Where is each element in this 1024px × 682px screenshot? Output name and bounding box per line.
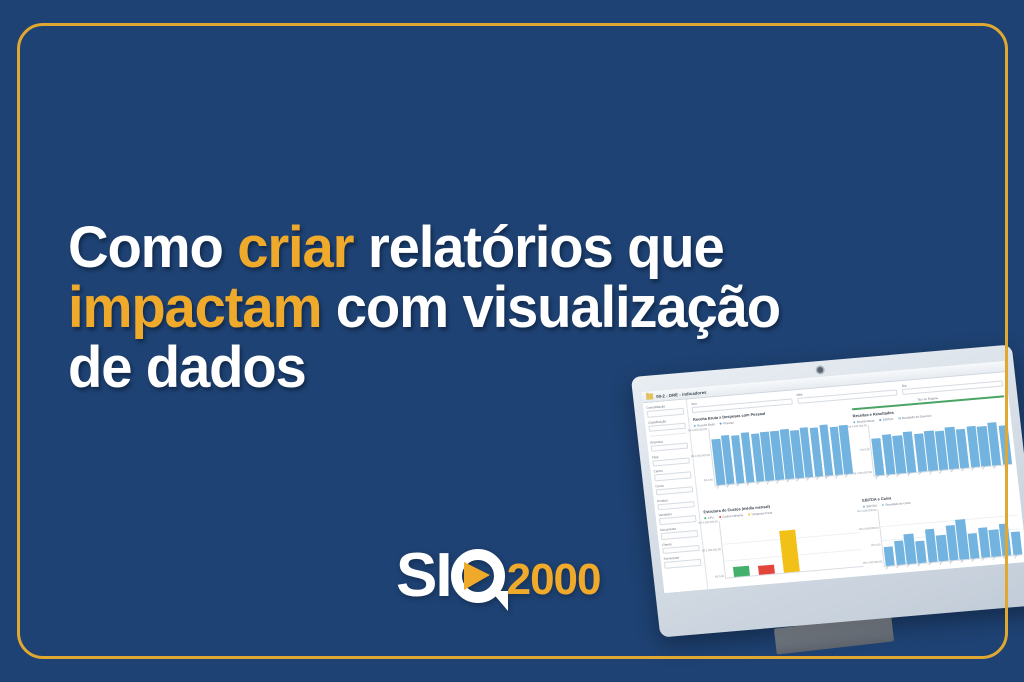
legend-label: EBITDA xyxy=(883,417,894,422)
sidebar-filter-consolidacao[interactable]: Consolidação xyxy=(646,403,684,418)
headline-highlight-impactam: impactam xyxy=(68,275,321,340)
y-tick: R$ 0,00 xyxy=(871,543,880,547)
legend-item[interactable]: EBITDA xyxy=(879,417,893,422)
logo-suffix-text: 2000 xyxy=(507,558,601,602)
legend-label: Pessoal xyxy=(723,421,734,426)
chart-receitas-resultados: Receitas e Resultados Receita Bruta EBIT… xyxy=(852,400,1013,488)
y-tick: R$ 2.000.000,00 xyxy=(859,527,878,532)
chart-plot-area xyxy=(719,510,864,580)
chart-ebitda-caixa: EBITDA e Caixa EBITDA Resultado de Caixa… xyxy=(862,485,1024,579)
chart-column-right: Tipo de Regime Receitas e Resultados Rec… xyxy=(851,391,1024,585)
headline-text-visualizacao: com visualização xyxy=(321,275,780,340)
y-tick: R$ 2.000.000,00 xyxy=(702,548,721,553)
sidebar-filter-fornecedor[interactable]: Fornecedor xyxy=(663,554,701,569)
chart-panels: Receita Bruta x Despesas com Pessoal Rec… xyxy=(693,391,1024,593)
y-tick: R$ 0,00 xyxy=(860,448,869,452)
legend-label: Custos Indiretos xyxy=(722,513,743,519)
y-tick: R$ 4.000.000,00 xyxy=(857,509,876,514)
monitor-screen: 09-2 - DRE - indicadores Consolidação Cl… xyxy=(642,361,1024,593)
y-tick: -R$ 2.000.000,00 xyxy=(852,471,872,476)
legend-item[interactable]: Despesas Fixas xyxy=(748,511,773,517)
chart-bar[interactable] xyxy=(915,541,927,563)
chart-bar[interactable] xyxy=(758,564,775,575)
y-tick: R$ 0,00 xyxy=(704,479,713,483)
headline-highlight-criar: criar xyxy=(237,215,353,280)
sidebar-filter-documento[interactable]: Documento xyxy=(660,525,698,540)
brand-logo: SI 2000 xyxy=(396,547,600,605)
headline-line-1: Como criar relatórios que xyxy=(68,222,912,274)
sidebar-filter-classificacao[interactable]: Classificação xyxy=(648,417,686,432)
logo-g-mark-icon xyxy=(451,547,507,605)
chart-receita-bruta-despesas: Receita Bruta x Despesas com Pessoal Rec… xyxy=(693,404,855,498)
y-tick: R$ 4.000.000,00 xyxy=(688,428,707,433)
chart-bar[interactable] xyxy=(925,529,938,563)
headline-line-2: impactam com visualização xyxy=(68,282,912,334)
sidebar-filter-centro[interactable]: Centro xyxy=(653,467,691,482)
chart-bar[interactable] xyxy=(884,546,896,566)
monitor-body: 09-2 - DRE - indicadores Consolidação Cl… xyxy=(631,345,1024,638)
webcam-icon xyxy=(817,367,824,373)
y-tick: R$ 0,00 xyxy=(715,575,724,579)
y-tick: -R$ 2.000.000,00 xyxy=(862,560,882,565)
legend-label: Despesas Fixas xyxy=(751,511,772,517)
folder-icon xyxy=(646,394,654,400)
sidebar-filter-filial[interactable]: Filial xyxy=(652,452,690,467)
y-tick: R$ 4.000.000,00 xyxy=(698,521,717,526)
dashboard-body: Consolidação Classificação Empresa xyxy=(643,372,1024,593)
chart-estrutura-custos: Estrutura de Custos (média mensal) CPV C… xyxy=(703,497,864,581)
sidebar-filter-empresa[interactable]: Empresa xyxy=(650,437,688,452)
chart-bar[interactable] xyxy=(1011,532,1023,555)
chart-column-left: Receita Bruta x Despesas com Pessoal Rec… xyxy=(693,404,866,593)
sidebar-divider xyxy=(650,433,687,437)
headline-text-como: Como xyxy=(68,215,237,280)
y-tick: R$ 4.000.000,00 xyxy=(848,424,867,429)
dashboard-app: 09-2 - DRE - indicadores Consolidação Cl… xyxy=(642,361,1024,593)
sidebar-filter-produto[interactable]: Produto xyxy=(657,496,695,511)
monitor-mockup: 09-2 - DRE - indicadores Consolidação Cl… xyxy=(645,360,1024,682)
sidebar-filter-conta[interactable]: Conta xyxy=(655,481,693,496)
chart-bar[interactable] xyxy=(904,534,917,564)
legend-label: Resultado de Caixa xyxy=(885,501,911,507)
sidebar-filter-vendedor[interactable]: Vendedor xyxy=(658,510,696,525)
legend-item[interactable]: Custos Indiretos xyxy=(719,513,744,519)
dashboard-title: 09-2 - DRE - indicadores xyxy=(656,389,707,398)
legend-item[interactable]: Pessoal xyxy=(720,421,734,426)
dashboard-main: Ano Mês Dia xyxy=(687,372,1024,589)
chart-bar[interactable] xyxy=(733,566,750,578)
headline-text-relatorios: relatórios que xyxy=(353,215,723,280)
logo-sig-text: SI xyxy=(396,547,451,605)
sidebar-filter-cliente[interactable]: Cliente xyxy=(662,540,700,555)
y-tick: R$ 2.000.000,00 xyxy=(691,454,710,459)
